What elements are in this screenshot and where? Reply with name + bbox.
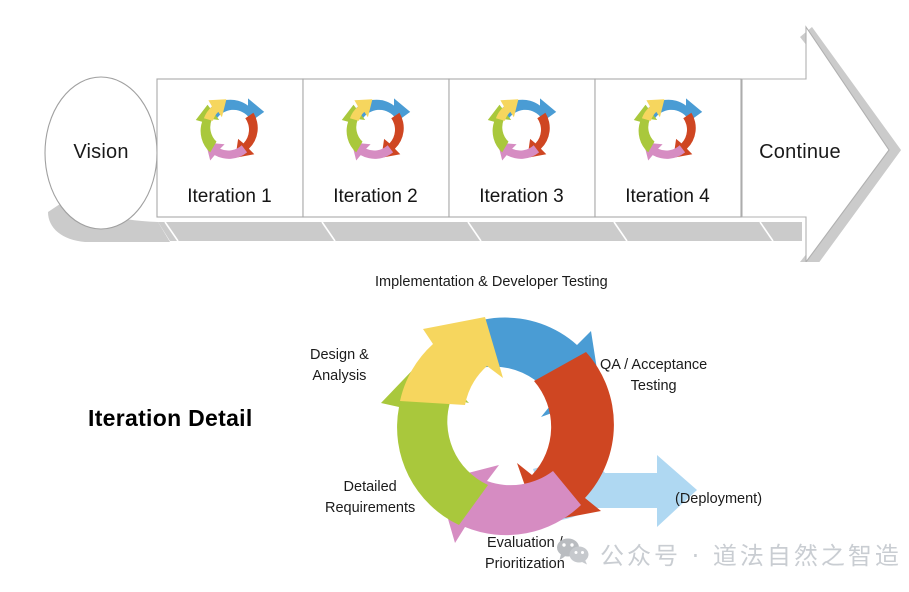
- label-evaluation-line1: Evaluation /: [485, 533, 565, 554]
- iteration-item-4[interactable]: Iteration 4: [611, 80, 724, 216]
- process-banner: Vision Continue: [0, 0, 909, 262]
- cycle-icon: [331, 84, 421, 179]
- label-detailed-requirements: Detailed Requirements: [325, 477, 415, 518]
- iteration-label: Iteration 1: [173, 186, 286, 208]
- watermark-text: 公众号 · 道法自然之智造: [600, 536, 902, 571]
- iteration-item-3[interactable]: Iteration 3: [465, 80, 578, 216]
- watermark: 公众号 · 道法自然之智造: [556, 536, 902, 571]
- iteration-item-2[interactable]: Iteration 2: [319, 80, 432, 216]
- iteration-detail-title: Iteration Detail: [88, 405, 253, 432]
- cycle-icon: [477, 84, 567, 179]
- iteration-label: Iteration 3: [465, 186, 578, 208]
- label-requirements-line2: Requirements: [325, 498, 415, 519]
- label-evaluation: Evaluation / Prioritization: [485, 533, 565, 574]
- label-design-line2: Analysis: [310, 366, 369, 387]
- label-qa-acceptance: QA / Acceptance Testing: [600, 355, 707, 396]
- banner-shapes: [0, 0, 909, 262]
- iteration-item-1[interactable]: Iteration 1: [173, 80, 286, 216]
- vision-label: Vision: [63, 141, 139, 164]
- iteration-label: Iteration 2: [319, 186, 432, 208]
- diagram-canvas: Vision Continue: [0, 0, 909, 592]
- label-design-line1: Design &: [310, 345, 369, 366]
- iteration-label: Iteration 4: [611, 186, 724, 208]
- label-deployment: (Deployment): [675, 489, 762, 510]
- cycle-icon: [623, 84, 713, 179]
- label-qa-line1: QA / Acceptance: [600, 355, 707, 376]
- design-segment: [400, 317, 503, 405]
- label-qa-line2: Testing: [600, 376, 707, 397]
- continue-label: Continue: [750, 141, 850, 164]
- label-evaluation-line2: Prioritization: [485, 554, 565, 575]
- label-requirements-line1: Detailed: [325, 477, 415, 498]
- cycle-icon: [185, 84, 275, 179]
- wechat-icon: [556, 537, 590, 570]
- label-design-analysis: Design & Analysis: [310, 345, 369, 386]
- label-implementation: Implementation & Developer Testing: [375, 272, 608, 293]
